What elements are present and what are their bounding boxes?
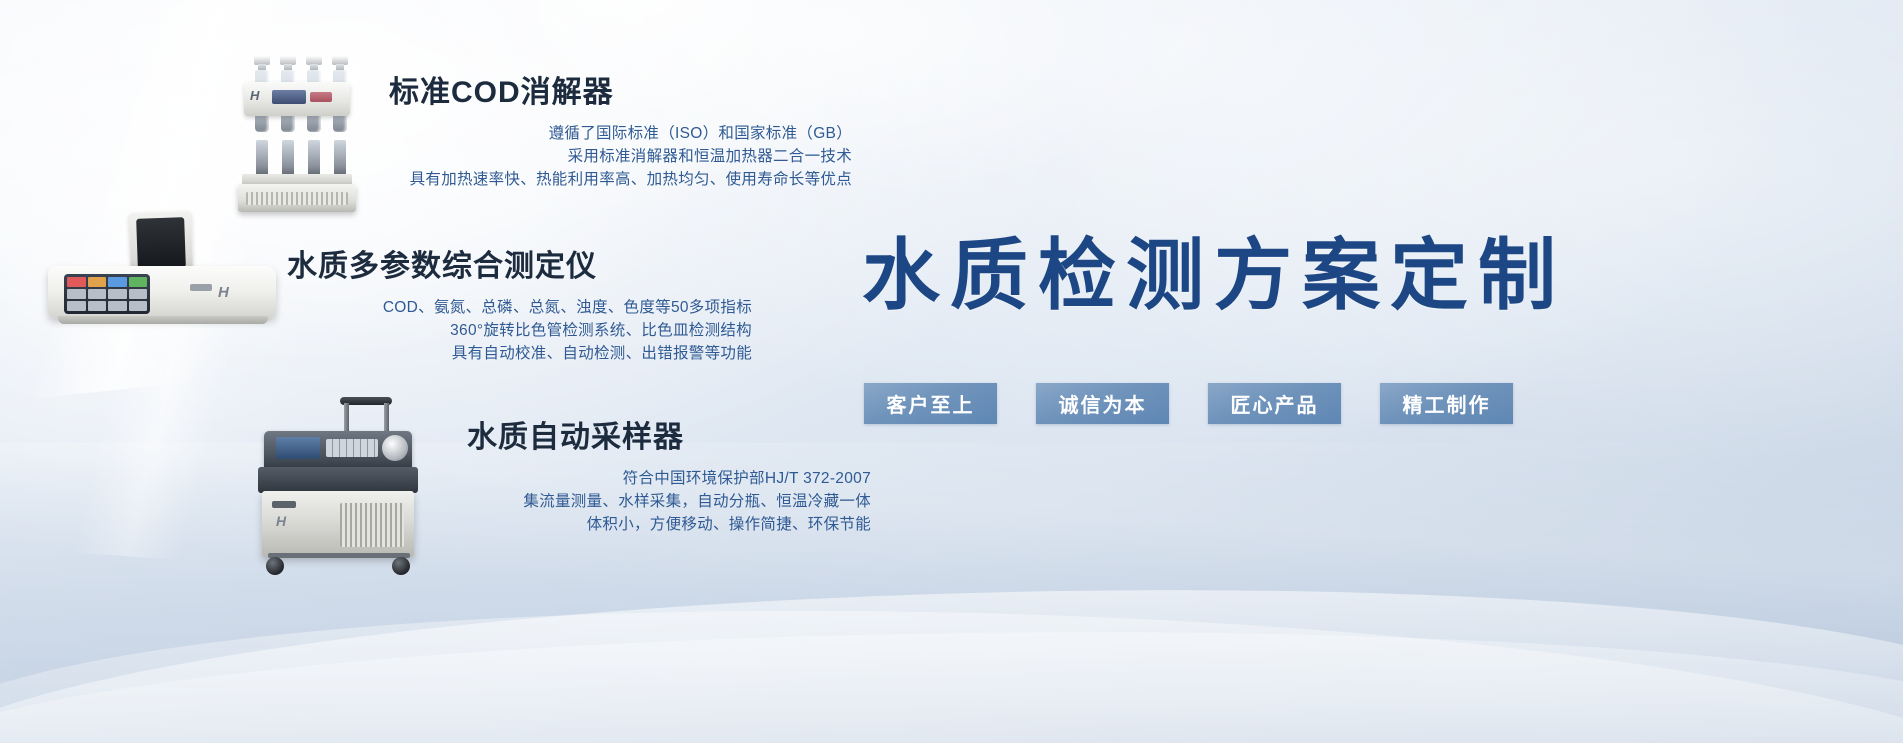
- sampler-door-latch: [272, 501, 296, 508]
- sampler-wheel: [392, 557, 410, 575]
- digestor-indicator: [310, 92, 332, 102]
- product-feature-line: 体积小，方便移动、操作简捷、环保节能: [467, 513, 871, 536]
- analyzer-foot: [58, 316, 268, 324]
- product-feature-line: COD、氨氮、总磷、总氮、浊度、色度等50多项指标: [287, 296, 752, 319]
- brand-logo-icon: H: [218, 284, 229, 301]
- slogan-badge-group: 客户至上 诚信为本 匠心产品 精工制作: [864, 383, 1513, 424]
- product-title: 标准COD消解器: [389, 76, 852, 109]
- product-title: 水质多参数综合测定仪: [287, 250, 752, 283]
- product-feature-line: 采用标准消解器和恒温加热器二合一技术: [389, 145, 852, 168]
- product-feature-line: 遵循了国际标准（ISO）和国家标准（GB）: [389, 122, 852, 145]
- banner-stage: H H H: [0, 0, 1903, 743]
- slogan-badge-integrity[interactable]: 诚信为本: [1036, 383, 1169, 424]
- analyzer-keypad: [64, 274, 150, 314]
- banner-headline: 水质检测方案定制: [862, 236, 1566, 314]
- sampler-vent: [340, 503, 404, 547]
- brand-logo-icon: H: [276, 513, 286, 529]
- product-feature-line: 具有自动校准、自动检测、出错报警等功能: [287, 342, 752, 365]
- product-title: 水质自动采样器: [467, 421, 871, 454]
- digestor-display: [272, 90, 306, 104]
- slogan-badge-precision[interactable]: 精工制作: [1380, 383, 1513, 424]
- sampler-wheel: [266, 557, 284, 575]
- product-block-analyzer: 水质多参数综合测定仪 COD、氨氮、总磷、总氮、浊度、色度等50多项指标 360…: [287, 250, 752, 365]
- multi-parameter-analyzer-photo: H: [40, 212, 290, 332]
- product-feature-line: 符合中国环境保护部HJ/T 372-2007: [467, 467, 871, 490]
- product-feature-line: 集流量测量、水样采集，自动分瓶、恒温冷藏一体: [467, 490, 871, 513]
- analyzer-cuvette-slot: [190, 284, 212, 291]
- sampler-midband: [258, 467, 418, 493]
- brand-logo-icon: H: [250, 88, 264, 104]
- sampler-peristaltic-pump: [382, 435, 408, 461]
- analyzer-lid-inner: [136, 217, 186, 269]
- auto-water-sampler-photo: H: [248, 397, 428, 582]
- sampler-keypad: [326, 439, 378, 457]
- cod-digestor-photo: H: [232, 48, 362, 214]
- product-feature-line: 360°旋转比色管检测系统、比色皿检测结构: [287, 319, 752, 342]
- product-description: 遵循了国际标准（ISO）和国家标准（GB） 采用标准消解器和恒温加热器二合一技术…: [389, 122, 852, 191]
- product-block-sampler: 水质自动采样器 符合中国环境保护部HJ/T 372-2007 集流量测量、水样采…: [467, 421, 871, 536]
- sampler-display: [276, 437, 320, 459]
- product-description: 符合中国环境保护部HJ/T 372-2007 集流量测量、水样采集，自动分瓶、恒…: [467, 467, 871, 536]
- slogan-badge-customer-first[interactable]: 客户至上: [864, 383, 997, 424]
- product-block-cod: 标准COD消解器 遵循了国际标准（ISO）和国家标准（GB） 采用标准消解器和恒…: [389, 76, 852, 191]
- slogan-badge-craftsmanship[interactable]: 匠心产品: [1208, 383, 1341, 424]
- digestor-grill: [246, 192, 348, 205]
- product-feature-line: 具有加热速率快、热能利用率高、加热均匀、使用寿命长等优点: [389, 168, 852, 191]
- sampler-axle: [268, 553, 410, 558]
- product-description: COD、氨氮、总磷、总氮、浊度、色度等50多项指标 360°旋转比色管检测系统、…: [287, 296, 752, 365]
